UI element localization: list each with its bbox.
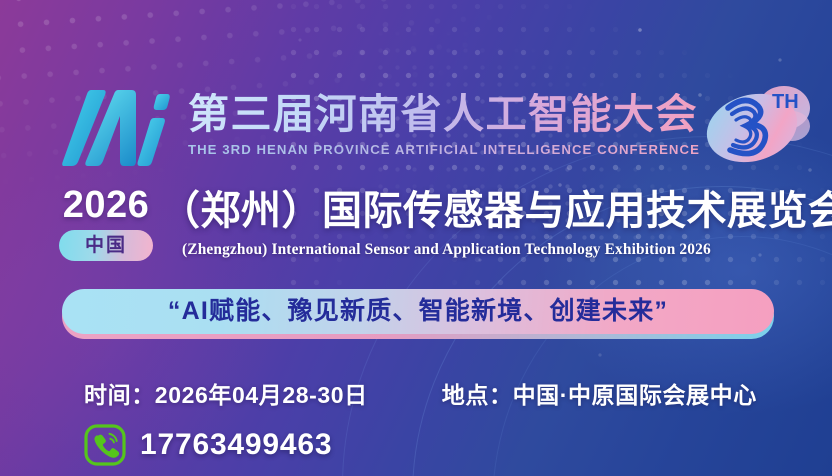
ai-monogram-logo (62, 82, 170, 168)
exhibition-title-block: （郑州）国际传感器与应用技术展览会 (Zhengzhou) Internatio… (160, 186, 832, 259)
event-venue: 地点：中国·中原国际会展中心 (442, 376, 757, 410)
conference-title-en: THE 3RD HENAN PROVINCE ARTIFICIAL INTELL… (188, 142, 700, 157)
event-date: 时间：2026年04月28-30日 (84, 376, 368, 410)
phone-call-icon (84, 424, 126, 466)
conference-title-cn: 第三届河南省人工智能大会 (188, 93, 700, 136)
conference-header: 第三届河南省人工智能大会 THE 3RD HENAN PROVINCE ARTI… (62, 82, 700, 168)
exhibition-title-en: (Zhengzhou) International Sensor and App… (182, 241, 832, 259)
exhibition-title-cn: （郑州）国际传感器与应用技术展览会 (160, 188, 832, 234)
edition-badge-suffix: TH (772, 91, 799, 113)
event-promo-banner: 第三届河南省人工智能大会 THE 3RD HENAN PROVINCE ARTI… (0, 0, 832, 476)
exhibition-header: 2026 中国 （郑州）国际传感器与应用技术展览会 (Zhengzhou) In… (56, 186, 832, 261)
conference-title-block: 第三届河南省人工智能大会 THE 3RD HENAN PROVINCE ARTI… (188, 93, 700, 156)
slogan-pill: “AI赋能、豫见新质、智能新境、创建未来” (62, 289, 774, 334)
event-details-row: 时间：2026年04月28-30日 地点：中国·中原国际会展中心 (84, 376, 757, 410)
slogan-banner: “AI赋能、豫见新质、智能新境、创建未来” (62, 289, 774, 334)
year-block: 2026 中国 (56, 186, 156, 261)
contact-phone-number[interactable]: 17763499463 (140, 430, 332, 460)
edition-badge-3th: TH (700, 78, 816, 174)
contact-row: 17763499463 (84, 424, 332, 466)
slogan-text: “AI赋能、豫见新质、智能新境、创建未来” (168, 299, 668, 324)
exhibition-year: 2026 (63, 186, 150, 224)
country-badge: 中国 (59, 230, 153, 261)
arc-line-3 (492, 236, 832, 476)
country-badge-label: 中国 (85, 236, 127, 255)
